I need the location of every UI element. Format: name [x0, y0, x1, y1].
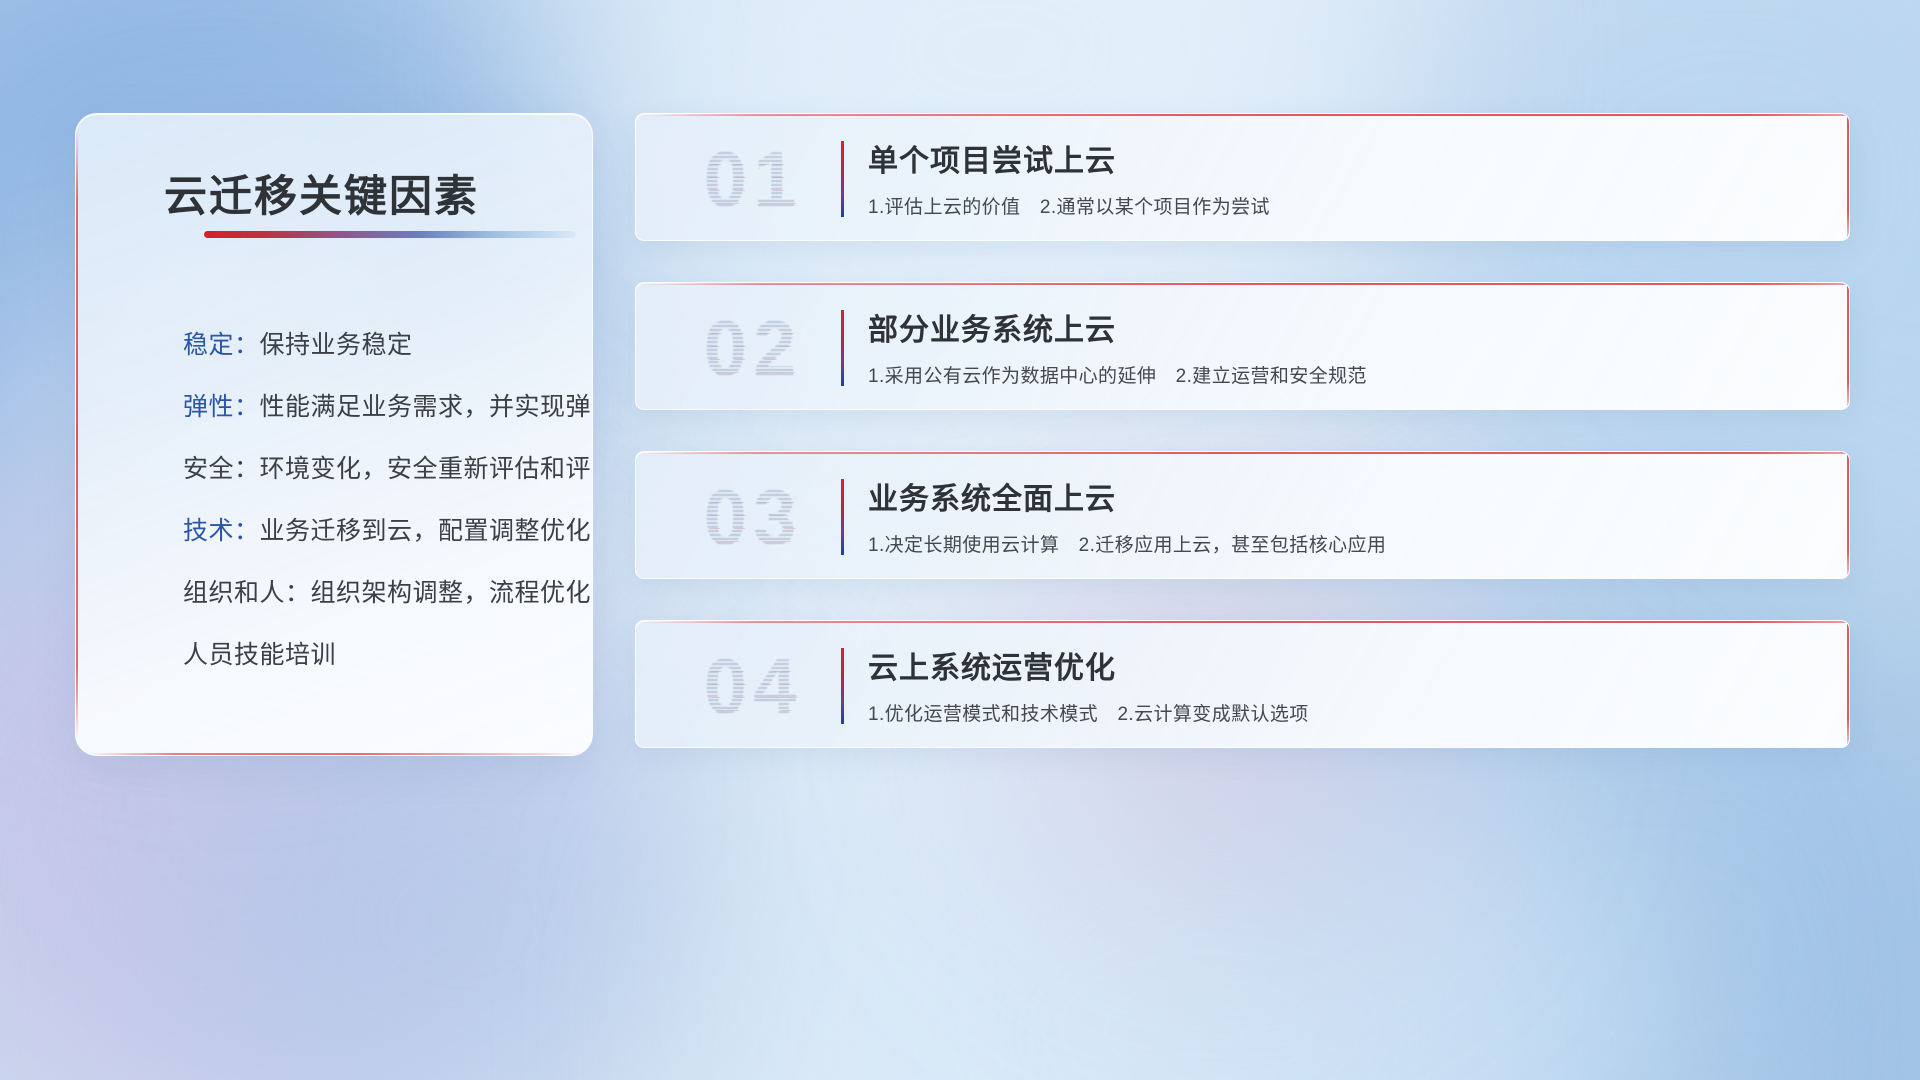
list-item: 人员技能培训	[183, 624, 583, 686]
list-item: 安全：环境变化，安全重新评估和评审	[183, 438, 583, 500]
factor-value: 人员技能培训	[183, 641, 336, 669]
factor-key: 弹性：	[183, 393, 260, 421]
stage-card-04[interactable]: 04 04 云上系统运营优化 1.优化运营模式和技术模式 2.云计算变成默认选项	[635, 620, 1850, 748]
factor-key: 安全：	[183, 455, 260, 483]
stage-number: 02	[668, 293, 838, 403]
factor-value: 保持业务稳定	[260, 331, 413, 359]
factor-value: 环境变化，安全重新评估和评审	[260, 455, 593, 483]
stage-number: 04	[668, 631, 838, 741]
factor-key: 技术：	[183, 517, 260, 545]
accent-bar	[841, 479, 844, 555]
list-item: 组织和人：组织架构调整，流程优化，	[183, 562, 583, 624]
key-factors-panel: 云迁移关键因素 稳定：保持业务稳定 弹性：性能满足业务需求，并实现弹性 安全：环…	[75, 113, 593, 756]
accent-bar	[841, 648, 844, 724]
stage-card-title: 部分业务系统上云	[868, 305, 1116, 349]
stage-card-title: 业务系统全面上云	[868, 474, 1116, 518]
list-item: 弹性：性能满足业务需求，并实现弹性	[183, 376, 583, 438]
stage-number: 03	[668, 462, 838, 572]
list-item: 稳定：保持业务稳定	[183, 314, 583, 376]
factor-key: 稳定：	[183, 331, 260, 359]
key-factors-list: 稳定：保持业务稳定 弹性：性能满足业务需求，并实现弹性 安全：环境变化，安全重新…	[183, 314, 583, 686]
stage-number: 01	[668, 124, 838, 234]
stage-card-title: 单个项目尝试上云	[868, 136, 1116, 180]
accent-bar	[841, 310, 844, 386]
stage-card-01[interactable]: 01 01 单个项目尝试上云 1.评估上云的价值 2.通常以某个项目作为尝试	[635, 113, 1850, 241]
page-title: 云迁移关键因素	[164, 162, 479, 224]
stage-card-02[interactable]: 02 02 部分业务系统上云 1.采用公有云作为数据中心的延伸 2.建立运营和安…	[635, 282, 1850, 410]
title-underline-rule	[204, 231, 576, 238]
stage-card-description: 1.采用公有云作为数据中心的延伸 2.建立运营和安全规范	[868, 361, 1367, 388]
list-item: 技术：业务迁移到云，配置调整优化	[183, 500, 583, 562]
stage-card-description: 1.优化运营模式和技术模式 2.云计算变成默认选项	[868, 699, 1309, 726]
accent-bar	[841, 141, 844, 217]
stage-card-description: 1.评估上云的价值 2.通常以某个项目作为尝试	[868, 192, 1270, 219]
factor-value: 业务迁移到云，配置调整优化	[260, 517, 592, 545]
stage-card-title: 云上系统运营优化	[868, 643, 1116, 687]
stage-card-description: 1.决定长期使用云计算 2.迁移应用上云，甚至包括核心应用	[868, 530, 1386, 557]
stage-cards-list: 01 01 单个项目尝试上云 1.评估上云的价值 2.通常以某个项目作为尝试 0…	[635, 113, 1850, 789]
factor-value: 组织架构调整，流程优化，	[311, 579, 593, 607]
stage-card-03[interactable]: 03 03 业务系统全面上云 1.决定长期使用云计算 2.迁移应用上云，甚至包括…	[635, 451, 1850, 579]
factor-value: 性能满足业务需求，并实现弹性	[260, 393, 593, 421]
slide-stage: 云迁移关键因素 稳定：保持业务稳定 弹性：性能满足业务需求，并实现弹性 安全：环…	[0, 0, 1920, 1080]
factor-key: 组织和人：	[183, 579, 311, 607]
